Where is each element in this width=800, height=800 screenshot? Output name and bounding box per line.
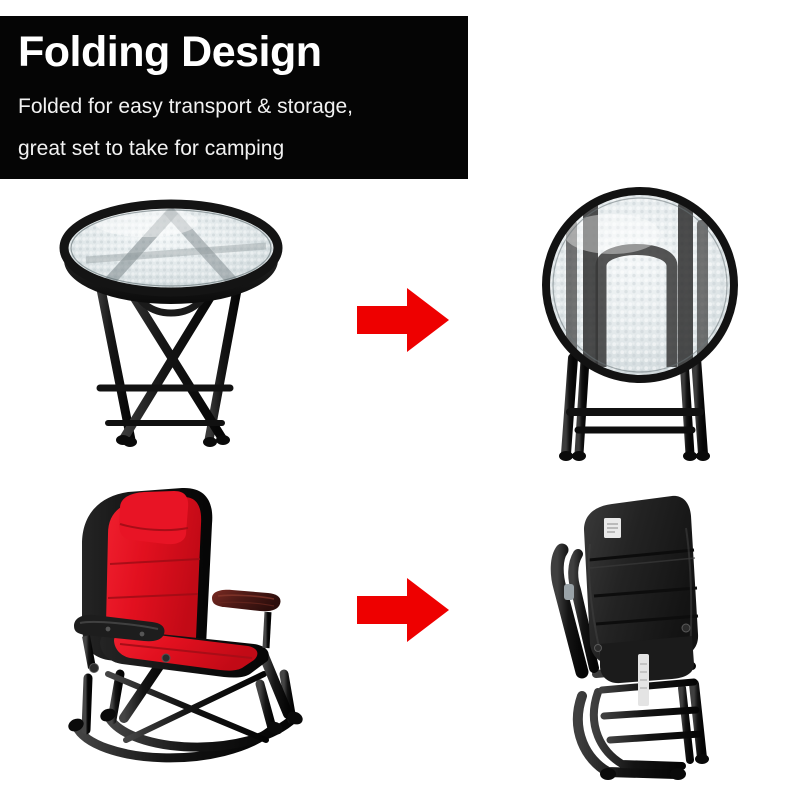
page-title: Folding Design [18, 31, 468, 74]
headline-subtitle-line-2: great set to take for camping [18, 138, 468, 159]
headline-subtitle-line-1: Folded for easy transport & storage, [18, 96, 468, 117]
product-image-chair-open: Open red padded folding rocking chair [16, 478, 326, 788]
arrow-right-icon-table: arrow pointing right from open table to … [357, 288, 449, 352]
arrow-right-icon-chair: arrow pointing right from open chair to … [357, 578, 449, 642]
headline-banner: Folding Design Folded for easy transport… [0, 16, 468, 179]
product-image-table-folded: Folded round glass-top side table [500, 182, 780, 474]
infographic-canvas: Folding Design Folded for easy transport… [0, 0, 800, 800]
product-image-chair-folded: Folded black padded rocking chair, rear … [486, 478, 786, 788]
product-image-table-open: Open round glass-top folding side table [26, 188, 316, 473]
